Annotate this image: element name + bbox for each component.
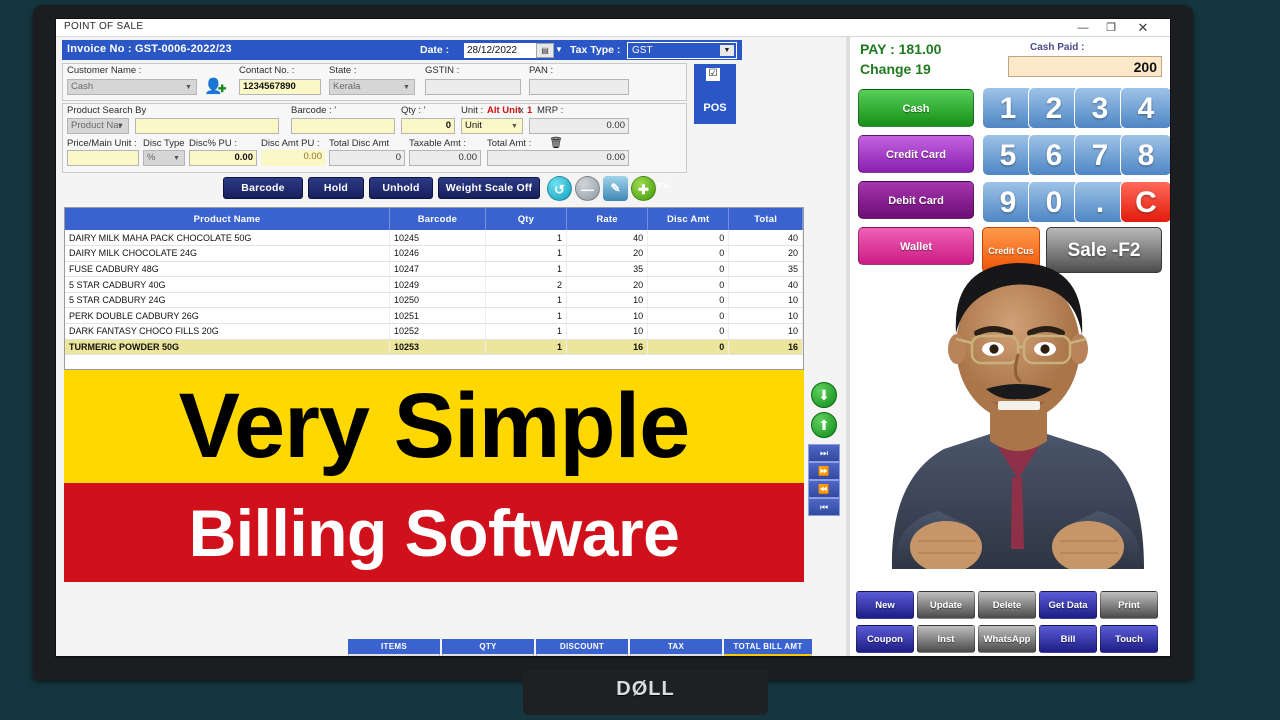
taxable-amt-input[interactable]: 0.00 [409,150,481,166]
cell-qty: 2 [485,277,566,293]
taxable-amt-label: Taxable Amt : [409,138,466,149]
disc-amt-pu-label: Disc Amt PU : [261,138,320,149]
cell-barcode: 10251 [390,308,486,324]
cell-name: PERK DOUBLE CADBURY 26G [65,308,390,324]
action-coupon[interactable]: Coupon [856,625,914,653]
pos-checkbox[interactable]: ☑ [706,68,720,81]
grid-col-0[interactable]: Product Name [65,208,390,230]
price-main-unit-label: Price/Main Unit : [67,138,137,149]
product-search-group: Product Search By Product Nar ▼ Barcode … [62,103,687,173]
summary-cell-0: ITEMS8 [348,639,440,656]
summary-value-2: 0.00 [536,654,628,656]
alt-qty-label: 1 [527,105,532,116]
disc-pct-input[interactable]: 0.00 [189,150,257,166]
summary-header-2: DISCOUNT [536,639,628,654]
banner-line1: Very Simple [64,370,804,483]
summary-header-3: TAX [630,639,722,654]
price-input[interactable] [67,150,139,166]
cell-qty: 1 [485,324,566,340]
payment-method-debit-card[interactable]: Debit Card [858,181,974,219]
pan-label: PAN : [529,65,553,76]
tax-type-value: GST [632,45,653,56]
cell-barcode: 10253 [390,339,486,355]
cell-name: DARK FANTASY CHOCO FILLS 20G [65,324,390,340]
cell-disc: 0 [648,339,729,355]
summary-cell-3: TAX27.56 [630,639,722,656]
table-row[interactable]: FUSE CADBURY 48G10247135035 [65,261,803,277]
summary-cell-4: TOTAL BILL AMT181.00 [724,639,812,656]
summary-value-0: 8 [348,654,440,656]
unit-select[interactable]: Unit ▼ [461,118,523,134]
cell-disc: 0 [648,230,729,246]
cell-barcode: 10252 [390,324,486,340]
cell-rate: 20 [567,277,648,293]
chevron-down-icon[interactable]: ▼ [182,81,195,94]
keypad-key-6[interactable]: 6 [1028,134,1080,176]
pos-tab-label: POS [694,102,736,114]
cash-paid-label: Cash Paid : [1030,42,1084,53]
cell-total: 10 [729,308,803,324]
add-icon[interactable]: ✚ [631,176,656,201]
chevron-down-icon[interactable]: ▼ [114,120,127,133]
maximize-button[interactable]: ❐ [1098,20,1124,36]
product-search-input[interactable] [135,118,279,134]
cell-name: 5 STAR CADBURY 24G [65,292,390,308]
mrp-input[interactable]: 0.00 [529,118,629,134]
bottom-action-buttons: NewUpdateDeleteGet DataPrintCouponInst M… [856,591,1166,655]
action-update[interactable]: Update [917,591,975,619]
disc-type-label: Disc Type [143,138,185,149]
unit-label: Unit : [461,105,483,116]
payment-method-cash[interactable]: Cash [858,89,974,127]
table-row[interactable]: 5 STAR CADBURY 24G10250110010 [65,292,803,308]
cell-qty: 1 [485,246,566,262]
cell-total: 10 [729,324,803,340]
summary-cell-2: DISCOUNT0.00 [536,639,628,656]
grid-header-row: Product NameBarcodeQtyRateDisc AmtTotal [65,208,803,230]
action-whatsapp[interactable]: WhatsApp [978,625,1036,653]
mrp-label: MRP : [537,105,563,116]
multiply-label: x [519,105,524,116]
total-disc-amt-input[interactable]: 0 [329,150,405,166]
barcode-input[interactable] [291,118,395,134]
cell-disc: 0 [648,324,729,340]
keypad-key-0[interactable]: 0 [1028,181,1080,223]
cell-qty: 1 [485,230,566,246]
date-label: Date : [420,44,449,56]
pos-tab[interactable]: ☑ POS [694,64,736,124]
customer-name-select[interactable]: Cash ▼ [67,79,197,95]
left-pane: Invoice No : GST-0006-2022/23 Date : 28/… [56,37,846,656]
disc-type-select[interactable]: % ▼ [143,150,185,166]
qty-label: Qty : ' [401,105,426,116]
action-get-data[interactable]: Get Data [1039,591,1097,619]
table-row[interactable]: DAIRY MILK CHOCOLATE 24G10246120020 [65,246,803,262]
table-row[interactable]: DAIRY MILK MAHA PACK CHOCOLATE 50G102451… [65,230,803,246]
cell-disc: 0 [648,246,729,262]
unhold-button[interactable]: Unhold [369,177,433,199]
cell-name: FUSE CADBURY 48G [65,261,390,277]
cell-name: TURMERIC POWDER 50G [65,339,390,355]
cell-rate: 16 [567,339,648,355]
banner-line2: Billing Software [64,483,804,582]
window-title: POINT OF SALE [64,21,143,32]
close-button[interactable]: ✕ [1130,20,1156,36]
payment-method-credit-card[interactable]: Credit Card [858,135,974,173]
pay-amount-label: PAY : 181.00 [860,41,941,57]
add-fkey-label: F11 [658,183,670,190]
minimize-button[interactable]: — [1070,20,1096,36]
action-toolbar: Barcode Hold Unhold Weight Scale Off ↺ —… [62,177,687,203]
total-disc-amt-label: Total Disc Amt [329,138,389,149]
cell-total: 10 [729,292,803,308]
cell-name: 5 STAR CADBURY 40G [65,277,390,293]
customer-group: Customer Name : Cash ▼ 👤 ✚ Contact No. :… [62,63,687,101]
keypad-key-8[interactable]: 8 [1120,134,1170,176]
cell-rate: 20 [567,246,648,262]
add-customer-icon[interactable]: ✚ [218,84,226,95]
total-amt-input[interactable]: 0.00 [487,150,629,166]
nav-last-icon[interactable]: ⏭ [808,444,840,462]
contact-no-input[interactable]: 1234567890 [239,79,321,95]
cell-barcode: 10250 [390,292,486,308]
action-delete[interactable]: Delete [978,591,1036,619]
summary-value-1: 9.000 [442,654,534,656]
cell-disc: 0 [648,277,729,293]
summary-cell-1: QTY9.000 [442,639,534,656]
nav-next-icon[interactable]: ⏩ [808,462,840,480]
cell-barcode: 10249 [390,277,486,293]
nav-prev-icon[interactable]: ⏪ [808,480,840,498]
numeric-keypad: 1234567890.C [982,87,1166,227]
cell-total: 40 [729,230,803,246]
cell-rate: 10 [567,292,648,308]
grid-col-1[interactable]: Barcode [390,208,486,230]
action-print[interactable]: Print [1100,591,1158,619]
remove-icon[interactable]: — [575,176,600,201]
calendar-icon[interactable]: ▤ [536,43,554,58]
keypad-key-1[interactable]: 1 [982,87,1034,129]
chevron-down-icon[interactable]: ▼ [508,120,521,133]
product-search-by-label: Product Search By [67,105,146,116]
disc-amt-pu-input[interactable]: 0.00 [261,150,325,166]
contact-no-label: Contact No. : [239,65,294,76]
monitor-stand: DØLL [523,670,768,715]
cell-disc: 0 [648,292,729,308]
keypad-key-2[interactable]: 2 [1028,87,1080,129]
grid-col-5[interactable]: Total [729,208,803,230]
chevron-down-icon[interactable]: ▼ [720,45,734,56]
payment-totals: PAY : 181.00 Change 19 Cash Paid : 200 [858,41,1162,83]
barcode-button[interactable]: Barcode [223,177,303,199]
scroll-down-icon[interactable]: ⬇ [811,382,837,408]
hold-button[interactable]: Hold [308,177,364,199]
cell-disc: 0 [648,308,729,324]
presenter-photo [872,229,1162,569]
delete-row-icon[interactable]: 🗑 [549,136,563,149]
cell-qty: 1 [485,339,566,355]
cell-rate: 40 [567,230,648,246]
cell-total: 16 [729,339,803,355]
grid-col-3[interactable]: Rate [567,208,648,230]
grid-body[interactable]: DAIRY MILK MAHA PACK CHOCOLATE 50G102451… [65,230,803,355]
keypad-key-3[interactable]: 3 [1074,87,1126,129]
nav-first-icon[interactable]: ⏮ [808,498,840,516]
change-amount-label: Change 19 [860,61,931,77]
grid-col-2[interactable]: Qty [485,208,566,230]
refresh-icon[interactable]: ↺ [547,176,572,201]
summary-header-4: TOTAL BILL AMT [724,639,812,654]
gstin-label: GSTIN : [425,65,459,76]
summary-header-0: ITEMS [348,639,440,654]
keypad-key-clear[interactable]: C [1120,181,1170,223]
qty-input[interactable]: 0 [401,118,455,134]
cell-qty: 1 [485,261,566,277]
summary-value-4: 181.00 [724,654,812,656]
monitor-frame: POINT OF SALE — ❐ ✕ Invoice No : GST-000… [33,5,1193,680]
table-row[interactable]: DARK FANTASY CHOCO FILLS 20G10252110010 [65,324,803,340]
window-titlebar: POINT OF SALE — ❐ ✕ [56,19,1170,37]
cell-qty: 1 [485,292,566,308]
table-row[interactable]: PERK DOUBLE CADBURY 26G10251110010 [65,308,803,324]
cell-rate: 35 [567,261,648,277]
table-row[interactable]: 5 STAR CADBURY 40G10249220040 [65,277,803,293]
summary-header-1: QTY [442,639,534,654]
state-select[interactable]: Kerala ▼ [329,79,415,95]
cell-barcode: 10247 [390,261,486,277]
edit-icon[interactable]: ✎ [603,176,628,201]
weight-scale-button[interactable]: Weight Scale Off [438,177,540,199]
total-amt-label: Total Amt : [487,138,531,149]
cell-total: 40 [729,277,803,293]
record-navigation: ⬇ ⬆ ⏭ ⏩ ⏪ ⏮ [808,382,842,542]
action-touch-produ[interactable]: Touch Produ... [1100,625,1158,653]
line-items-grid[interactable]: Product NameBarcodeQtyRateDisc AmtTotal … [64,207,804,370]
state-value: Kerala [333,81,360,92]
bill-summary-bar: ITEMS8QTY9.000DISCOUNT0.00TAX27.56TOTAL … [348,639,804,656]
cell-barcode: 10246 [390,246,486,262]
chevron-down-icon[interactable]: ▼ [400,81,413,94]
cell-name: DAIRY MILK MAHA PACK CHOCOLATE 50G [65,230,390,246]
action-inst-message[interactable]: Inst Message [917,625,975,653]
cash-paid-input[interactable]: 200 [1008,56,1162,77]
cell-total: 20 [729,246,803,262]
invoice-number-label: Invoice No : GST-0006-2022/23 [67,43,232,55]
payment-pane: PAY : 181.00 Change 19 Cash Paid : 200 C… [850,37,1170,656]
customer-name-value: Cash [71,81,93,92]
date-input[interactable]: 28/12/2022 [464,43,536,58]
gstin-input[interactable] [425,79,521,95]
cell-rate: 10 [567,308,648,324]
keypad-key-7[interactable]: 7 [1074,134,1126,176]
cell-qty: 1 [485,308,566,324]
monitor-screen: POINT OF SALE — ❐ ✕ Invoice No : GST-000… [56,19,1170,656]
search-by-select[interactable]: Product Nar ▼ [67,118,129,134]
chevron-down-icon[interactable]: ▼ [170,152,183,165]
cell-total: 35 [729,261,803,277]
keypad-key-dot[interactable]: . [1074,181,1126,223]
chevron-down-icon[interactable]: ▼ [555,45,563,54]
cell-rate: 10 [567,324,648,340]
pan-input[interactable] [529,79,629,95]
cell-disc: 0 [648,261,729,277]
grid-col-4[interactable]: Disc Amt [648,208,729,230]
scroll-up-icon[interactable]: ⬆ [811,412,837,438]
alt-unit-label: Alt Unit [487,105,521,116]
summary-value-3: 27.56 [630,654,722,656]
disc-type-value: % [147,152,155,163]
state-label: State : [329,65,356,76]
monitor-brand-logo: DØLL [523,678,768,701]
table-row[interactable]: TURMERIC POWDER 50G10253116016 [65,339,803,355]
customer-name-label: Customer Name : [67,65,141,76]
keypad-key-9[interactable]: 9 [982,181,1034,223]
action-bill-summary[interactable]: Bill Summary [1039,625,1097,653]
promo-banner: Very Simple Billing Software [64,370,804,582]
pos-application-window: POINT OF SALE — ❐ ✕ Invoice No : GST-000… [56,19,1170,656]
keypad-key-4[interactable]: 4 [1120,87,1170,129]
cell-name: DAIRY MILK CHOCOLATE 24G [65,246,390,262]
cell-barcode: 10245 [390,230,486,246]
tax-type-label: Tax Type : [570,44,620,56]
keypad-key-5[interactable]: 5 [982,134,1034,176]
unit-value: Unit [465,120,482,131]
invoice-header-bar: Invoice No : GST-0006-2022/23 Date : 28/… [62,40,742,60]
barcode-label: Barcode : ' [291,105,336,116]
action-new[interactable]: New [856,591,914,619]
tax-type-select[interactable]: GST ▼ [627,42,737,59]
disc-pct-label: Disc% PU : [189,138,237,149]
